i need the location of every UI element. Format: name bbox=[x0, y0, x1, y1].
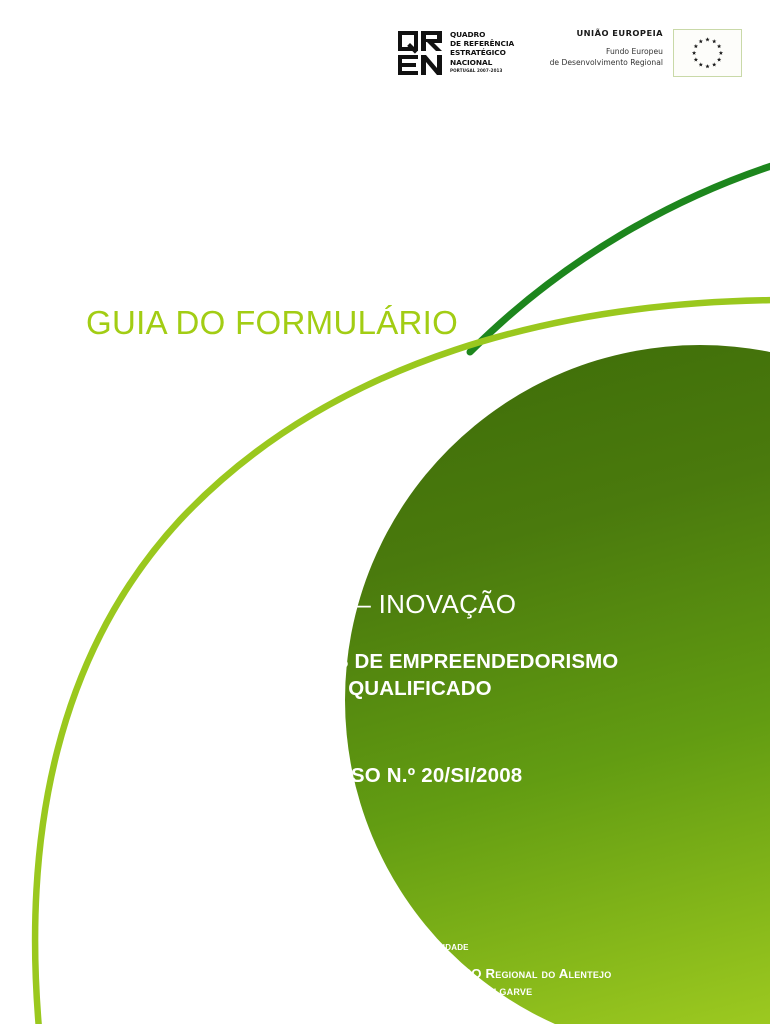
qren-monogram-icon bbox=[396, 28, 446, 82]
eu-stars-circle bbox=[674, 30, 741, 76]
dark-green-arc bbox=[470, 160, 770, 352]
cover-artwork bbox=[0, 0, 770, 1024]
eu-logo-text: UNIÃO EUROPEIA Fundo Europeu de Desenvol… bbox=[473, 28, 663, 68]
footer-main-programme: PO Factores de Competitividade bbox=[0, 938, 770, 954]
notice-number: AVISO N.º 20/SI/2008 bbox=[175, 762, 665, 789]
eu-subtitle-line-2: de Desenvolvimento Regional bbox=[473, 57, 663, 68]
qren-microtext: PORTUGAL 2007-2013 bbox=[450, 68, 514, 74]
guide-title: GUIA DO FORMULÁRIO bbox=[86, 303, 458, 343]
footer-regions-line-2: PO Regional de Lisboa ● PO Regional do A… bbox=[0, 982, 770, 999]
cover-center-block: SI – INOVAÇÃO PROJECTOS DE EMPREENDEDORI… bbox=[175, 588, 665, 789]
document-cover-page: QUADRO DE REFERÊNCIA ESTRATÉGICO NACIONA… bbox=[0, 0, 770, 1024]
footer-regions-line-1: PO Regional do Norte ● PO Regional do Ce… bbox=[0, 965, 770, 982]
eu-subtitle-line-1: Fundo Europeu bbox=[473, 46, 663, 57]
eu-title: UNIÃO EUROPEIA bbox=[473, 28, 663, 38]
programme-title: SI – INOVAÇÃO bbox=[175, 588, 665, 620]
header-logos: QUADRO DE REFERÊNCIA ESTRATÉGICO NACIONA… bbox=[0, 26, 770, 90]
project-type-line-2: QUALIFICADO bbox=[175, 675, 665, 702]
eu-logo: UNIÃO EUROPEIA Fundo Europeu de Desenvol… bbox=[530, 26, 745, 88]
eu-subtitle: Fundo Europeu de Desenvolvimento Regiona… bbox=[473, 46, 663, 68]
project-type-line-1: PROJECTOS DE EMPREENDEDORISMO bbox=[175, 648, 665, 675]
footer-programmes: PO Factores de Competitividade PO Region… bbox=[0, 938, 770, 999]
eu-flag-icon bbox=[673, 29, 742, 77]
project-type-title: PROJECTOS DE EMPREENDEDORISMO QUALIFICAD… bbox=[175, 648, 665, 702]
